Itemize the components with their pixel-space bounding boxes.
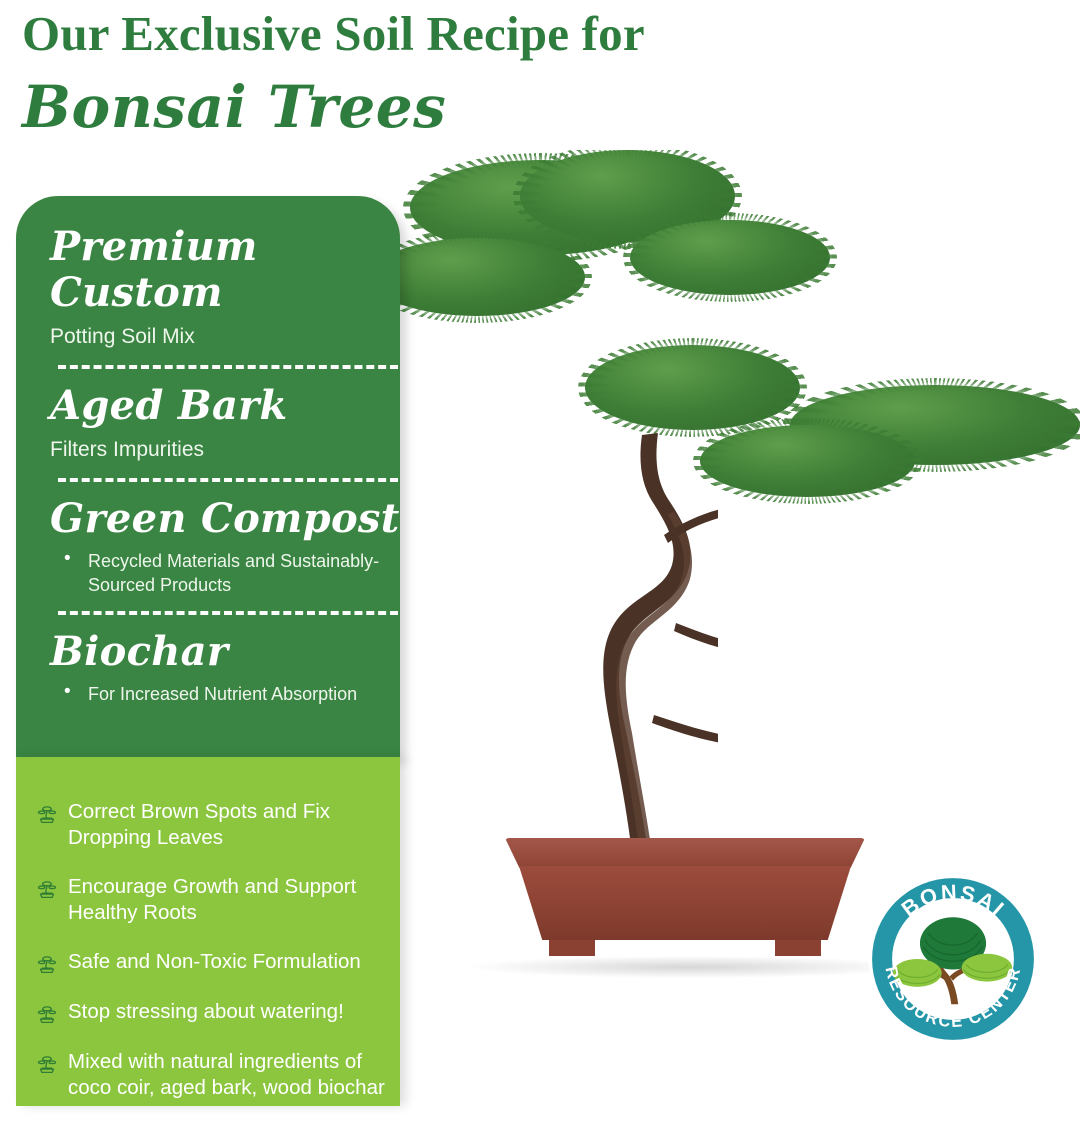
bonsai-tree-icon [34,1000,60,1026]
ingredient-item-premium-custom: Premium Custom Potting Soil Mix [50,224,400,351]
pot-rim [505,838,865,868]
ingredient-bullet-list: Recycled Materials and Sustainably-Sourc… [50,549,400,597]
ingredient-bullet: Recycled Materials and Sustainably-Sourc… [50,549,400,597]
ingredient-subtitle: Filters Impurities [50,436,400,464]
ingredient-item-green-compost: Green Compost Recycled Materials and Sus… [50,496,400,597]
bonsai-tree-icon [34,875,60,901]
benefit-list-item: Stop stressing about watering! [34,999,394,1026]
ingredient-divider-3 [58,611,398,615]
foliage-pad-left [400,238,585,316]
benefit-list-item: Correct Brown Spots and Fix Dropping Lea… [34,799,394,851]
benefits-list: Correct Brown Spots and Fix Dropping Lea… [34,799,394,1124]
benefits-panel: Correct Brown Spots and Fix Dropping Lea… [16,757,400,1106]
foliage-pad-right-lower [700,425,915,497]
bonsai-tree-icon [34,1050,60,1076]
benefit-label: Safe and Non-Toxic Formulation [68,949,361,975]
benefit-list-item: Encourage Growth and Support Healthy Roo… [34,874,394,926]
ingredient-title: Aged Bark [50,383,400,429]
benefit-label: Stop stressing about watering! [68,999,344,1025]
headline-line-1: Our Exclusive Soil Recipe for [22,4,922,64]
ingredient-divider-2 [58,478,398,482]
ingredient-card: Premium Custom Potting Soil Mix Aged Bar… [16,196,400,757]
foliage-pad-right-upper [630,220,830,295]
benefit-list-item: Mixed with natural ingredients of coco c… [34,1049,394,1101]
bonsai-pot [505,838,865,968]
benefit-label: Encourage Growth and Support Healthy Roo… [68,874,394,926]
benefit-list-item: Safe and Non-Toxic Formulation [34,949,394,976]
bonsai-tree-icon [34,800,60,826]
ingredient-bullet-list: For Increased Nutrient Absorption [50,682,400,706]
pot-foot-left [549,940,595,956]
ingredient-bullet: For Increased Nutrient Absorption [50,682,400,706]
ingredient-item-aged-bark: Aged Bark Filters Impurities [50,383,400,464]
benefit-label: Correct Brown Spots and Fix Dropping Lea… [68,799,394,851]
pot-body [519,866,851,940]
bonsai-resource-center-badge: BONSAI RESOURCE CENTER [866,872,1040,1046]
ingredient-title: Green Compost [50,496,400,542]
bonsai-tree-icon [34,950,60,976]
ingredient-subtitle: Potting Soil Mix [50,323,400,351]
pot-foot-right [775,940,821,956]
ingredient-title: Premium Custom [50,224,400,316]
benefit-label: Mixed with natural ingredients of coco c… [68,1049,394,1101]
page-headline: Our Exclusive Soil Recipe for Bonsai Tre… [22,4,922,144]
ingredient-title: Biochar [50,629,400,675]
ingredient-item-biochar: Biochar For Increased Nutrient Absorptio… [50,629,400,706]
bonsai-trunk [568,415,718,855]
ingredient-divider-1 [58,365,398,369]
headline-line-2: Bonsai Trees [22,70,922,144]
